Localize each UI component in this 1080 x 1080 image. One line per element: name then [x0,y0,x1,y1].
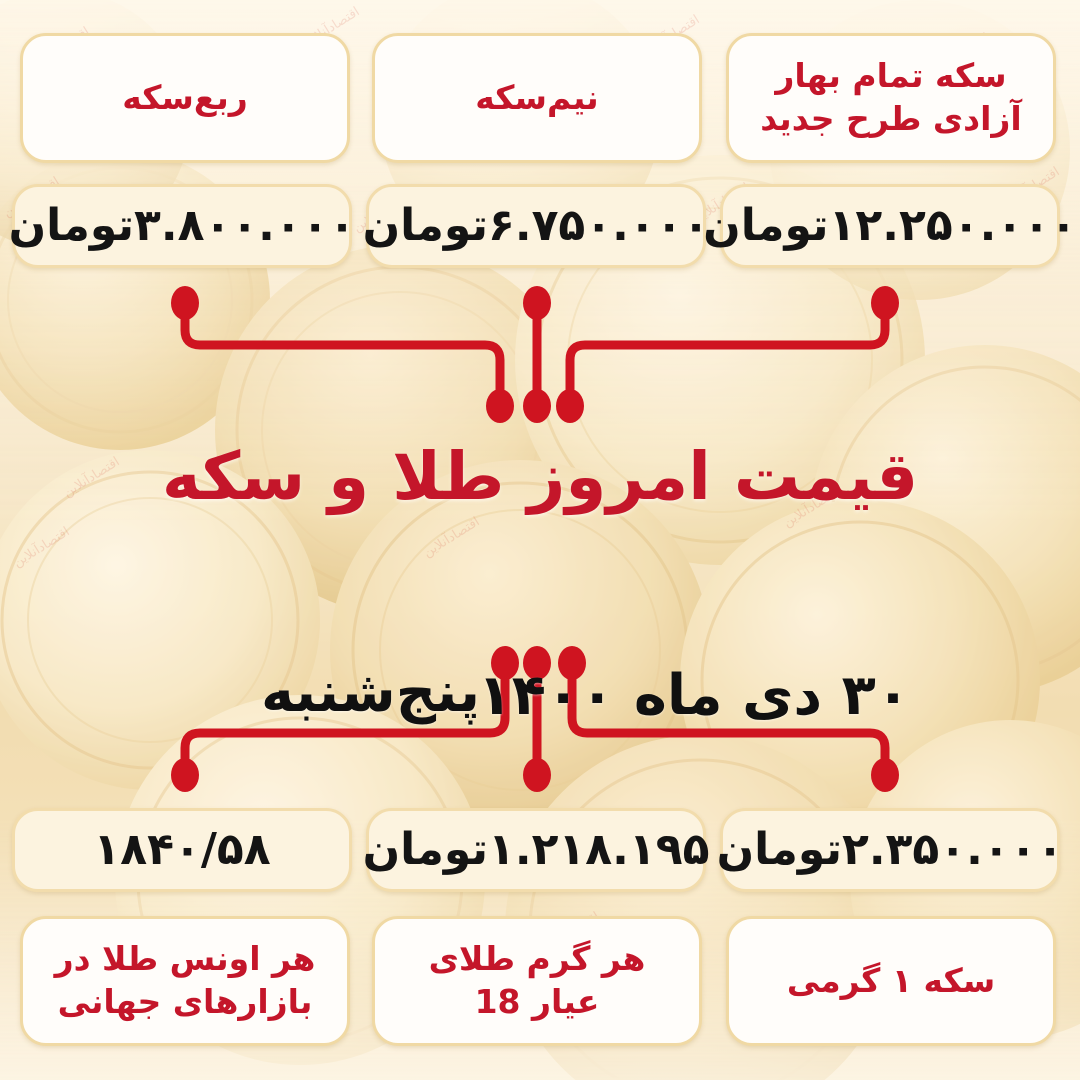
coin-label-card-full-bahar-azadi: سکه تمام بهار آزادی طرح جدید [726,33,1056,163]
gold-label-card-one-gram-coin: سکه ۱ گرمی [726,916,1056,1046]
gold-label-text: سکه ۱ گرمی [787,960,995,1003]
coin-price-text: ۳.۸۰۰.۰۰۰تومان [9,197,356,254]
coin-label-card-quarter: ربع‌سکه [20,33,350,163]
coin-label-text: ربع‌سکه [122,77,248,120]
gold-price-card-global-ounce: ۱۸۴۰/۵۸ [12,808,352,892]
gold-price-card-one-gram-coin: ۲.۳۵۰.۰۰۰تومان [720,808,1060,892]
gold-label-card-gram-18k: هر گرم طلای عیار 18 [372,916,702,1046]
coin-price-card-quarter: ۳.۸۰۰.۰۰۰تومان [12,184,352,268]
gold-price-text: ۱.۲۱۸.۱۹۵تومان [363,821,710,878]
gold-label-text: هر اونس طلا در بازارهای جهانی [49,938,321,1024]
page-title: قیمت امروز طلا و سکه [0,438,1080,515]
coin-price-text: ۶.۷۵۰.۰۰۰تومان [363,197,710,254]
gold-price-card-gram-18k: ۱.۲۱۸.۱۹۵تومان [366,808,706,892]
coin-price-card-half: ۶.۷۵۰.۰۰۰تومان [366,184,706,268]
date-weekday: پنج‌شنبه [261,660,480,725]
coin-price-card-full-bahar-azadi: ۱۲.۲۵۰.۰۰۰تومان [720,184,1060,268]
gold-label-card-global-ounce: هر اونس طلا در بازارهای جهانی [20,916,350,1046]
gold-price-text: ۱۸۴۰/۵۸ [93,821,270,878]
coin-label-card-half: نیم‌سکه [372,33,702,163]
gold-label-text: هر گرم طلای عیار 18 [415,938,659,1024]
coin-label-text: سکه تمام بهار آزادی طرح جدید [747,55,1035,141]
coin-label-text: نیم‌سکه [475,77,598,120]
date-full: ۳۰ دی ماه ۱۴۰۰ [478,663,910,728]
coin-price-text: ۱۲.۲۵۰.۰۰۰تومان [703,197,1077,254]
gold-price-text: ۲.۳۵۰.۰۰۰تومان [717,821,1064,878]
